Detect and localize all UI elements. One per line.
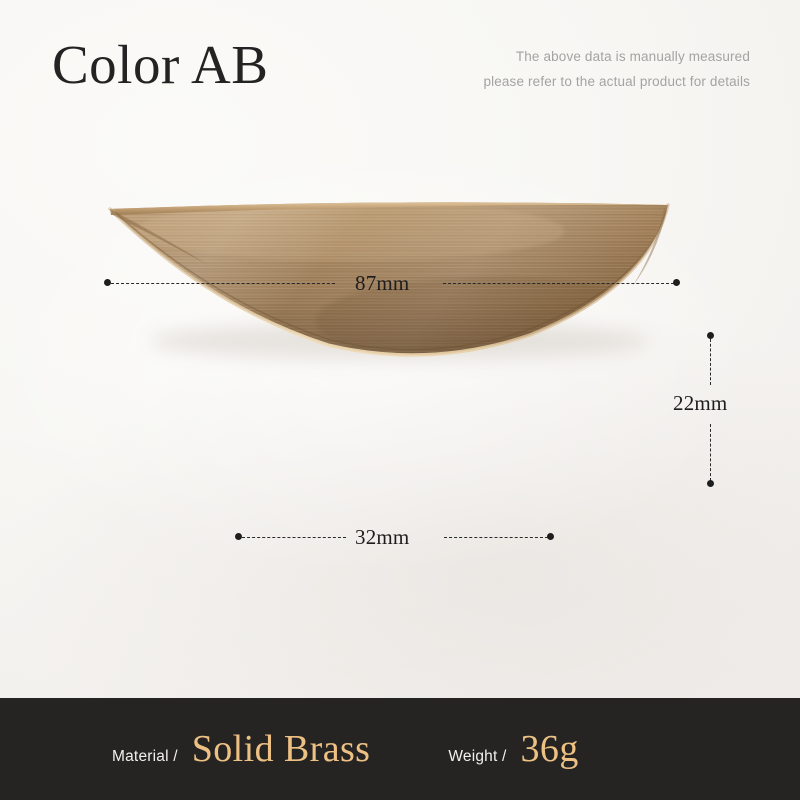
dimension-center-line-right [444,537,548,538]
dimension-center-line-left [242,537,346,538]
dimension-center-endpoint-left [235,533,242,540]
dimension-height-endpoint-top [707,332,714,339]
spec-material: Material / Solid Brass [112,730,370,768]
dimension-height-endpoint-bottom [707,480,714,487]
spec-weight-value: 36g [521,730,579,768]
dimension-width-line-right [443,283,674,284]
dimension-height-line-top [710,339,711,385]
disclaimer-line-1: The above data is manually measured [483,45,750,70]
dimension-width-line-left [111,283,335,284]
disclaimer-line-2: please refer to the actual product for d… [483,70,750,95]
dimension-center-label: 32mm [355,525,409,550]
spec-weight: Weight / 36g [448,730,578,768]
spec-material-value: Solid Brass [192,730,371,768]
product-spec-page: Color AB The above data is manually meas… [0,0,800,800]
dimension-height-label: 22mm [673,391,727,416]
page-title: Color AB [52,36,268,94]
dimension-center-endpoint-right [547,533,554,540]
dimension-width-endpoint-right [673,279,680,286]
spec-bar: Material / Solid Brass Weight / 36g [0,698,800,800]
dimension-height-line-bottom [710,424,711,481]
spec-material-key: Material / [112,748,178,766]
disclaimer-note: The above data is manually measured plea… [483,45,750,95]
dimension-width-label: 87mm [355,271,409,296]
spec-weight-key: Weight / [448,748,506,766]
dimension-width-endpoint-left [104,279,111,286]
